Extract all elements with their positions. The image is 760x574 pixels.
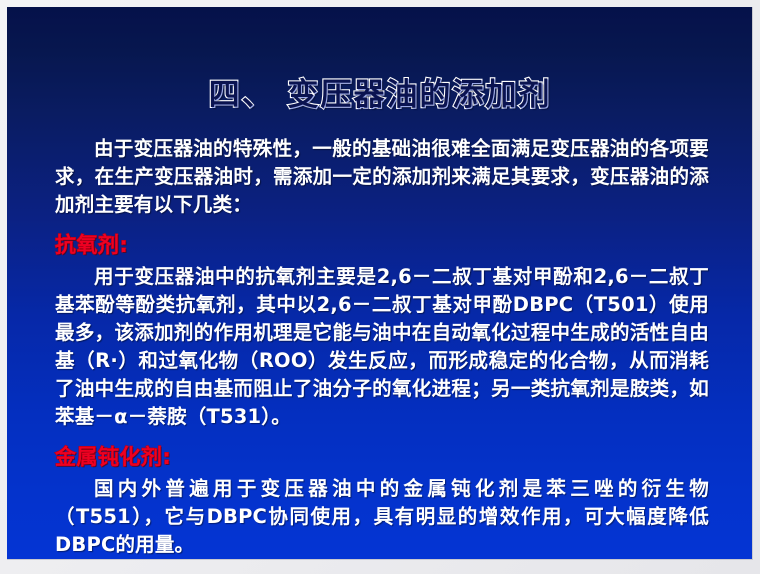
spacer	[55, 221, 709, 225]
heading-metal-passivator: 金属钝化剂:	[55, 443, 709, 471]
page-title: 四、 变压器油的添加剂	[209, 69, 552, 114]
heading-antioxidant: 抗氧剂:	[55, 231, 709, 259]
antioxidant-paragraph: 用于变压器油中的抗氧剂主要是2,6－二叔丁基对甲酚和2,6－二叔丁基苯酚等酚类抗…	[55, 263, 709, 431]
slide-canvas: 四、 变压器油的添加剂 由于变压器油的特殊性，一般的基础油很难全面满足变压器油的…	[7, 7, 753, 560]
slide-title-container: 四、 变压器油的添加剂	[7, 69, 753, 114]
metal-passivator-paragraph: 国内外普遍用于变压器油中的金属钝化剂是苯三唑的衍生物（T551），它与DBPC协…	[55, 475, 709, 559]
slide-body: 由于变压器油的特殊性，一般的基础油很难全面满足变压器油的各项要求，在生产变压器油…	[55, 135, 709, 560]
spacer	[55, 433, 709, 437]
presentation-backdrop: 四、 变压器油的添加剂 由于变压器油的特殊性，一般的基础油很难全面满足变压器油的…	[0, 0, 760, 574]
intro-paragraph: 由于变压器油的特殊性，一般的基础油很难全面满足变压器油的各项要求，在生产变压器油…	[55, 135, 709, 219]
